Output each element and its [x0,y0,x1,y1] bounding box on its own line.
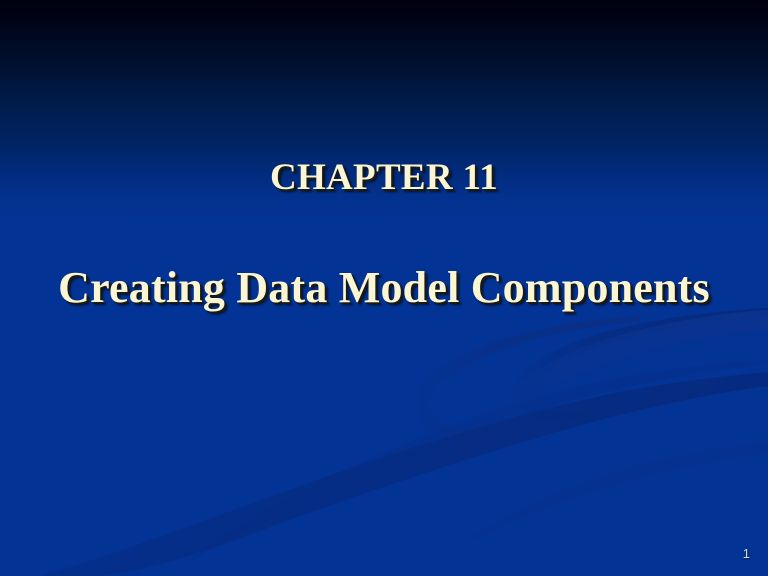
presentation-slide: CHAPTER 11 Creating Data Model Component… [0,0,768,576]
swirl-ribbon-hook-left [407,316,640,438]
slide-title: CHAPTER 11 [270,158,498,199]
subtitle-container: Creating Data Model Components [0,264,768,312]
swirl-ribbon-mid-right [494,310,768,456]
swirl-band-diagonal [40,372,768,576]
title-container: CHAPTER 11 [0,158,768,199]
page-number: 1 [743,547,750,560]
swirl-echo-lower-right [448,442,768,552]
slide-subtitle: Creating Data Model Components [58,264,710,312]
swirl-wisp-line [182,360,768,566]
swirl-ribbon-upper-right [511,308,768,419]
